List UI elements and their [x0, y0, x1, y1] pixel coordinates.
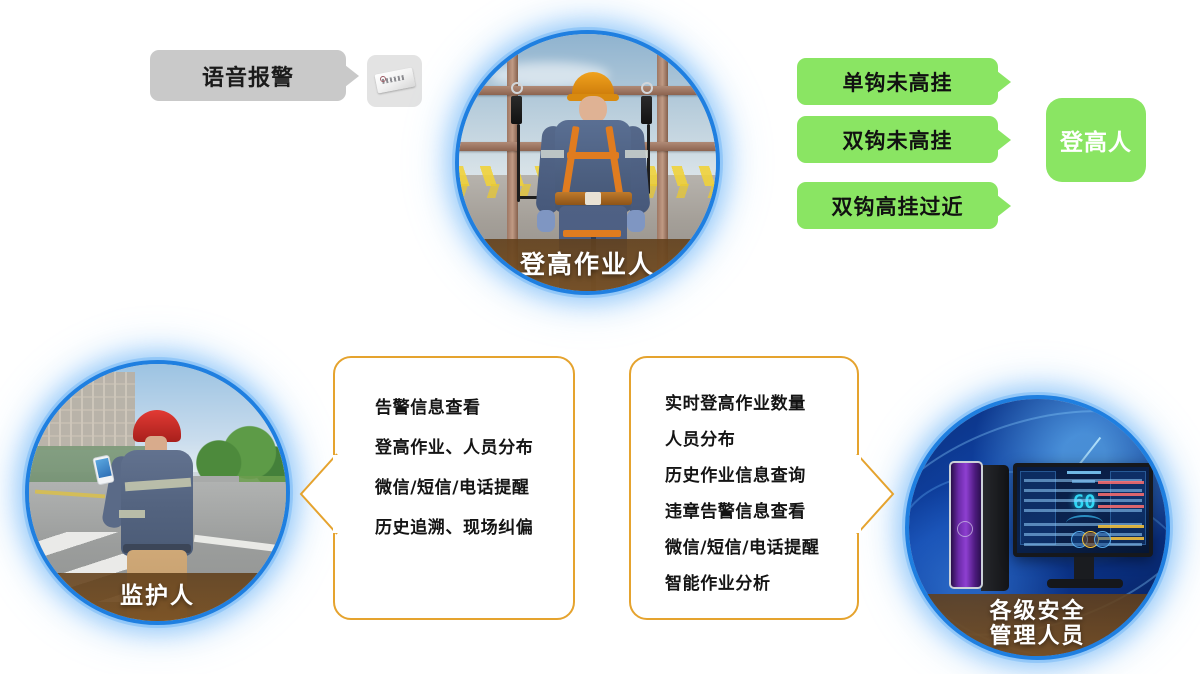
dashboard-row	[1024, 489, 1143, 492]
glove-right	[627, 210, 645, 232]
dashboard-indicator-3	[1094, 531, 1111, 548]
voice-alarm-device-icon	[367, 55, 422, 107]
dashboard-screen: 60	[1017, 467, 1149, 553]
alarm-type-label-2: 双钩未高挂	[843, 125, 953, 155]
callout-line: 历史作业信息查询	[665, 461, 835, 486]
callout-line: 登高作业、人员分布	[375, 433, 551, 458]
callout-line: 微信/短信/电话提醒	[375, 473, 551, 498]
safety-hook-left	[511, 82, 523, 94]
lanyard-anchor-right	[641, 96, 652, 124]
lanyard-anchor-left	[511, 96, 522, 124]
glove-left	[537, 210, 555, 232]
role-caption-manager-line1: 各级安全	[989, 600, 1085, 625]
harness-buckle	[585, 192, 601, 205]
callout-guard-functions: 告警信息查看 登高作业、人员分布 微信/短信/电话提醒 历史追溯、现场纠偏	[333, 356, 575, 620]
dashboard-alert-row	[1098, 481, 1144, 484]
voice-alarm-label: 语音报警	[202, 60, 294, 92]
alarm-type-bubble-3: 双钩高挂过近	[797, 182, 998, 229]
pc-tower-side	[981, 465, 1009, 591]
dashboard-title-bar	[1067, 471, 1101, 474]
alarm-type-bubble-2: 双钩未高挂	[797, 116, 998, 163]
alarm-type-label-3: 双钩高挂过近	[832, 191, 964, 221]
role-caption-manager: 各级安全 管理人员	[909, 594, 1166, 656]
guard-torso	[121, 450, 193, 556]
reflective-stripe-right	[625, 150, 648, 158]
callout-line: 告警信息查看	[375, 393, 551, 418]
dashboard-row	[1024, 509, 1143, 512]
role-photo-guard: 监护人	[25, 360, 290, 625]
role-caption-guard: 监护人	[29, 573, 286, 621]
alarm-target-tag: 登高人	[1046, 98, 1146, 182]
reflective-stripe-sleeve	[119, 510, 145, 518]
callout-line: 历史追溯、现场纠偏	[375, 513, 551, 538]
role-photo-manager: 60	[905, 395, 1170, 660]
callout-line: 智能作业分析	[665, 569, 835, 594]
callout-manager-functions: 实时登高作业数量 人员分布 历史作业信息查询 违章告警信息查看 微信/短信/电话…	[629, 356, 859, 620]
callout-line: 人员分布	[665, 425, 835, 450]
harness-chest-strap	[567, 152, 619, 159]
lanyard-left	[517, 124, 520, 202]
callout-line: 违章告警信息查看	[665, 497, 835, 522]
reflective-stripe-left	[541, 150, 564, 158]
voice-alarm-bubble: 语音报警	[150, 50, 346, 101]
monitor-stand-neck	[1074, 557, 1094, 581]
diagram-canvas: 语音报警 单钩未高挂 双钩未高挂 双钩高挂过近 登高人	[0, 0, 1200, 674]
dashboard-alert-row	[1098, 493, 1144, 496]
dashboard-row	[1024, 499, 1143, 502]
building-scaffold	[37, 372, 135, 450]
callout-manager-arrow-tail	[855, 452, 897, 536]
monitor: 60	[1013, 463, 1153, 557]
harness-leg-strap	[563, 230, 621, 237]
callout-guard-arrow-tail	[297, 452, 337, 536]
role-caption-manager-line2: 管理人员	[989, 625, 1085, 650]
dashboard-gauge-value: 60	[1067, 487, 1101, 517]
pc-brand-logo-icon	[957, 521, 973, 537]
monitor-stand-base	[1047, 579, 1123, 588]
role-photo-climber: 登高作业人	[455, 30, 720, 295]
dashboard-alert-row	[1098, 505, 1144, 508]
callout-line: 实时登高作业数量	[665, 389, 835, 414]
alarm-type-bubble-1: 单钩未高挂	[797, 58, 998, 105]
safety-hook-right	[641, 82, 653, 94]
alarm-type-label-1: 单钩未高挂	[843, 67, 953, 97]
dashboard-alert-row	[1098, 525, 1144, 528]
role-caption-climber: 登高作业人	[459, 239, 716, 291]
callout-line: 微信/短信/电话提醒	[665, 533, 835, 558]
